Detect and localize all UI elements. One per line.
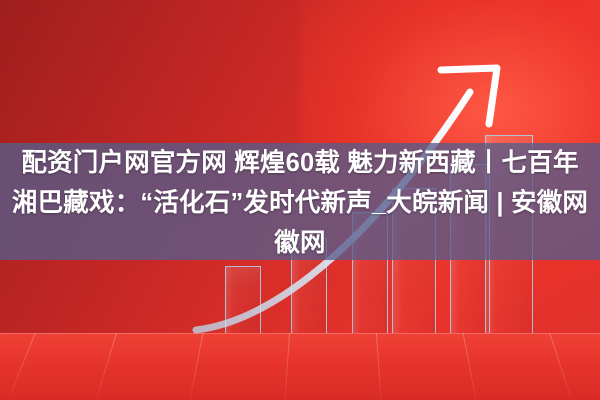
caption-line-3: 徽网 xyxy=(0,223,600,263)
caption-line-2: 湘巴藏戏：“活化石”发时代新声_大皖新闻 | 安徽网 xyxy=(0,183,600,223)
caption-text: 配资门户网官方网 辉煌60载 魅力新西藏丨七百年 湘巴藏戏：“活化石”发时代新声… xyxy=(0,143,600,263)
caption-line-1: 配资门户网官方网 辉煌60载 魅力新西藏丨七百年 xyxy=(0,143,600,183)
banner-image: 配资门户网官方网 辉煌60载 魅力新西藏丨七百年 湘巴藏戏：“活化石”发时代新声… xyxy=(0,0,600,400)
